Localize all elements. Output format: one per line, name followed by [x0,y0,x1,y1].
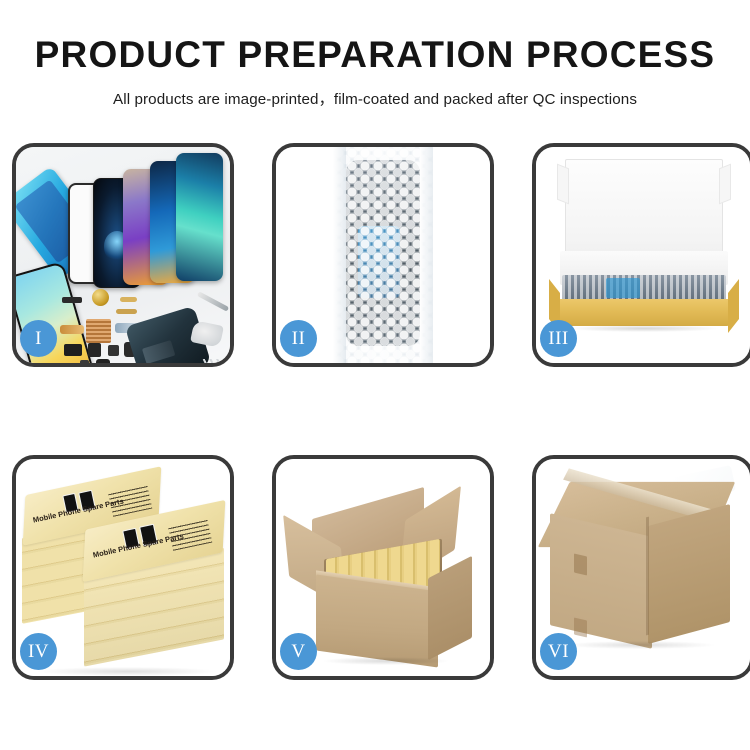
carton-front-icon [550,513,652,649]
bubble-pattern-icon [333,147,433,363]
tweezers-icon [197,291,229,311]
carton-edge-seam [646,517,649,636]
kraft-box-front-icon [558,299,730,326]
infographic-page: PRODUCT PREPARATION PROCESS All products… [0,0,750,750]
step-badge-1: I [20,320,57,357]
carton-side-icon [648,504,730,644]
screws-icon [202,359,224,363]
small-component-icon [96,359,110,363]
step-badge-5: V [280,633,317,670]
step-panel-phone-parts: I [12,143,234,367]
step-panel-carton-filled: V [272,455,494,680]
step-panel-carton-sealed: VI [532,455,750,680]
drop-shadow [38,667,216,676]
step-panel-bubble-wrap: II [272,143,494,367]
component-bar-icon [116,309,137,314]
step-badge-6: VI [540,633,577,670]
carton-front-icon [316,574,438,667]
step-panel-boxes-stacked: Mobile Phone Spare Parts Mobile Phone Sp… [12,455,234,680]
small-component-icon [88,343,101,357]
component-bar-icon [120,297,137,302]
page-subtitle: All products are image-printed，film-coat… [0,87,750,109]
wrapped-contents-icon [562,275,726,302]
drop-shadow [324,657,448,665]
step-badge-4: IV [20,633,57,670]
step-panel-inner-box: III [532,143,750,367]
step-badge-2: II [280,320,317,357]
small-component-icon [64,344,82,356]
bubble-edge-icon [333,147,346,363]
small-component-icon [80,360,89,363]
copper-mesh-icon [86,319,111,343]
header: PRODUCT PREPARATION PROCESS All products… [0,0,750,109]
small-component-icon [108,345,119,356]
page-title: PRODUCT PREPARATION PROCESS [0,34,750,76]
drop-shadow [570,325,718,332]
carton-handle-tab-icon [574,553,587,575]
bubble-edge-icon [420,147,433,363]
component-bar-icon [62,297,82,303]
speaker-coil-icon [92,289,109,306]
drop-shadow [566,641,714,649]
process-grid: I II III [12,143,738,680]
carton-handle-tab-icon [574,617,587,637]
phone-screen-teal-icon [176,153,223,281]
step-badge-3: III [540,320,577,357]
flex-cable-icon [60,325,84,334]
box-stack: Mobile Phone Spare Parts Mobile Phone Sp… [22,475,228,665]
